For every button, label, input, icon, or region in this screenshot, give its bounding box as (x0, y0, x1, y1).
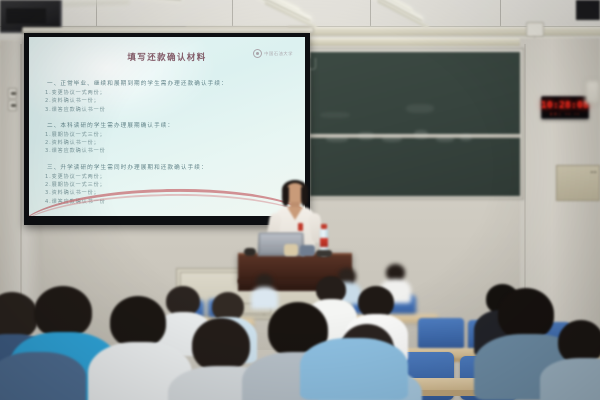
image-vignette (0, 0, 600, 400)
classroom-scene: 填写还款确认材料 中国石油大学 一、正常毕业、继续和展期到期的学生需办理还款确认… (0, 0, 600, 400)
